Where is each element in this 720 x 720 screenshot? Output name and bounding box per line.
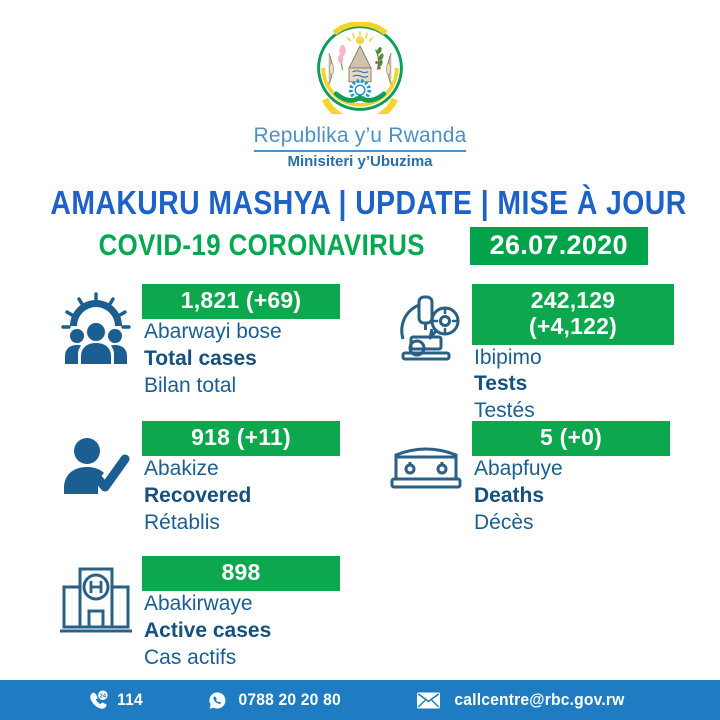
covid-headline: COVID-19 CORONAVIRUS [99,230,425,262]
recovered-label-rw: Abakize [142,456,340,483]
stat-text: 5 (+0) Abapfuye Deaths Décès [472,419,670,536]
virus-people-icon [50,282,142,374]
stat-text: 1,821 (+69) Abarwayi bose Total cases Bi… [142,282,340,399]
title-block: AMAKURU MASHYA | UPDATE | MISE À JOUR CO… [0,186,720,265]
coffin-icon [380,419,472,511]
covid-date-row: COVID-19 CORONAVIRUS 26.07.2020 [0,227,720,265]
stat-text: 898 Abakirwaye Active cases Cas actifs [142,554,340,671]
person-check-icon [50,419,142,511]
active-cases-label-fr: Cas actifs [142,645,340,672]
deaths-value: 5 (+0) [472,421,670,456]
recovered-value: 918 (+11) [142,421,340,456]
hospital-icon [50,554,142,646]
tests-value: 242,129 (+4,122) [472,284,674,345]
hotline-item[interactable]: 24 114 [88,690,144,711]
stat-text: 918 (+11) Abakize Recovered Rétablis [142,419,340,536]
whatsapp-icon [208,691,227,710]
contact-footer: 24 114 0788 20 20 80 [0,680,720,720]
stat-total-cases: 1,821 (+69) Abarwayi bose Total cases Bi… [0,282,360,419]
update-headline: AMAKURU MASHYA | UPDATE | MISE À JOUR [50,186,669,221]
total-cases-label-fr: Bilan total [142,373,340,400]
stat-row-1: 1,821 (+69) Abarwayi bose Total cases Bi… [0,282,720,419]
report-date-badge: 26.07.2020 [470,227,648,265]
whatsapp-item[interactable]: 0788 20 20 80 [208,690,345,710]
name-divider [254,150,466,152]
deaths-label-fr: Décès [472,510,670,537]
deaths-label-rw: Abapfuye [472,456,670,483]
envelope-icon [417,692,440,709]
active-cases-label-en: Active cases [142,618,340,645]
stat-row-2: 918 (+11) Abakize Recovered Rétablis [0,419,720,554]
rwanda-coat-of-arms-icon [314,22,406,114]
whatsapp-number: 0788 20 20 80 [238,690,340,710]
email-address: callcentre@rbc.gov.rw [455,690,625,710]
infographic-page: Republika y’u Rwanda Minisiteri y’Ubuzim… [0,0,720,720]
statistics-grid: 1,821 (+69) Abarwayi bose Total cases Bi… [0,282,720,671]
ministry-name: Minisiteri y’Ubuzima [0,154,720,171]
deaths-label-en: Deaths [472,483,670,510]
total-cases-label-en: Total cases [142,346,340,373]
total-cases-label-rw: Abarwayi bose [142,319,340,346]
hotline-number: 114 [117,690,143,710]
active-cases-label-rw: Abakirwaye [142,591,340,618]
recovered-label-en: Recovered [142,483,340,510]
phone-24h-icon: 24 [88,690,109,711]
stat-text: 242,129 (+4,122) Ibipimo Tests Testés [472,282,674,425]
government-names: Republika y’u Rwanda Minisiteri y’Ubuzim… [0,125,720,171]
country-name: Republika y’u Rwanda [0,125,720,147]
total-cases-value: 1,821 (+69) [142,284,340,319]
email-item[interactable]: callcentre@rbc.gov.rw [417,690,632,710]
tests-label-rw: Ibipimo [472,345,674,372]
stat-active-cases: 898 Abakirwaye Active cases Cas actifs [0,554,360,671]
stat-empty-slot [360,554,720,671]
stat-deaths: 5 (+0) Abapfuye Deaths Décès [360,419,720,554]
coat-of-arms-container [0,22,720,114]
stat-recovered: 918 (+11) Abakize Recovered Rétablis [0,419,360,554]
microscope-icon [380,282,472,374]
recovered-label-fr: Rétablis [142,510,340,537]
stat-row-3: 898 Abakirwaye Active cases Cas actifs [0,554,720,671]
svg-text:24: 24 [100,693,107,699]
stat-tests: 242,129 (+4,122) Ibipimo Tests Testés [360,282,720,419]
active-cases-value: 898 [142,556,340,591]
tests-label-en: Tests [472,371,674,398]
